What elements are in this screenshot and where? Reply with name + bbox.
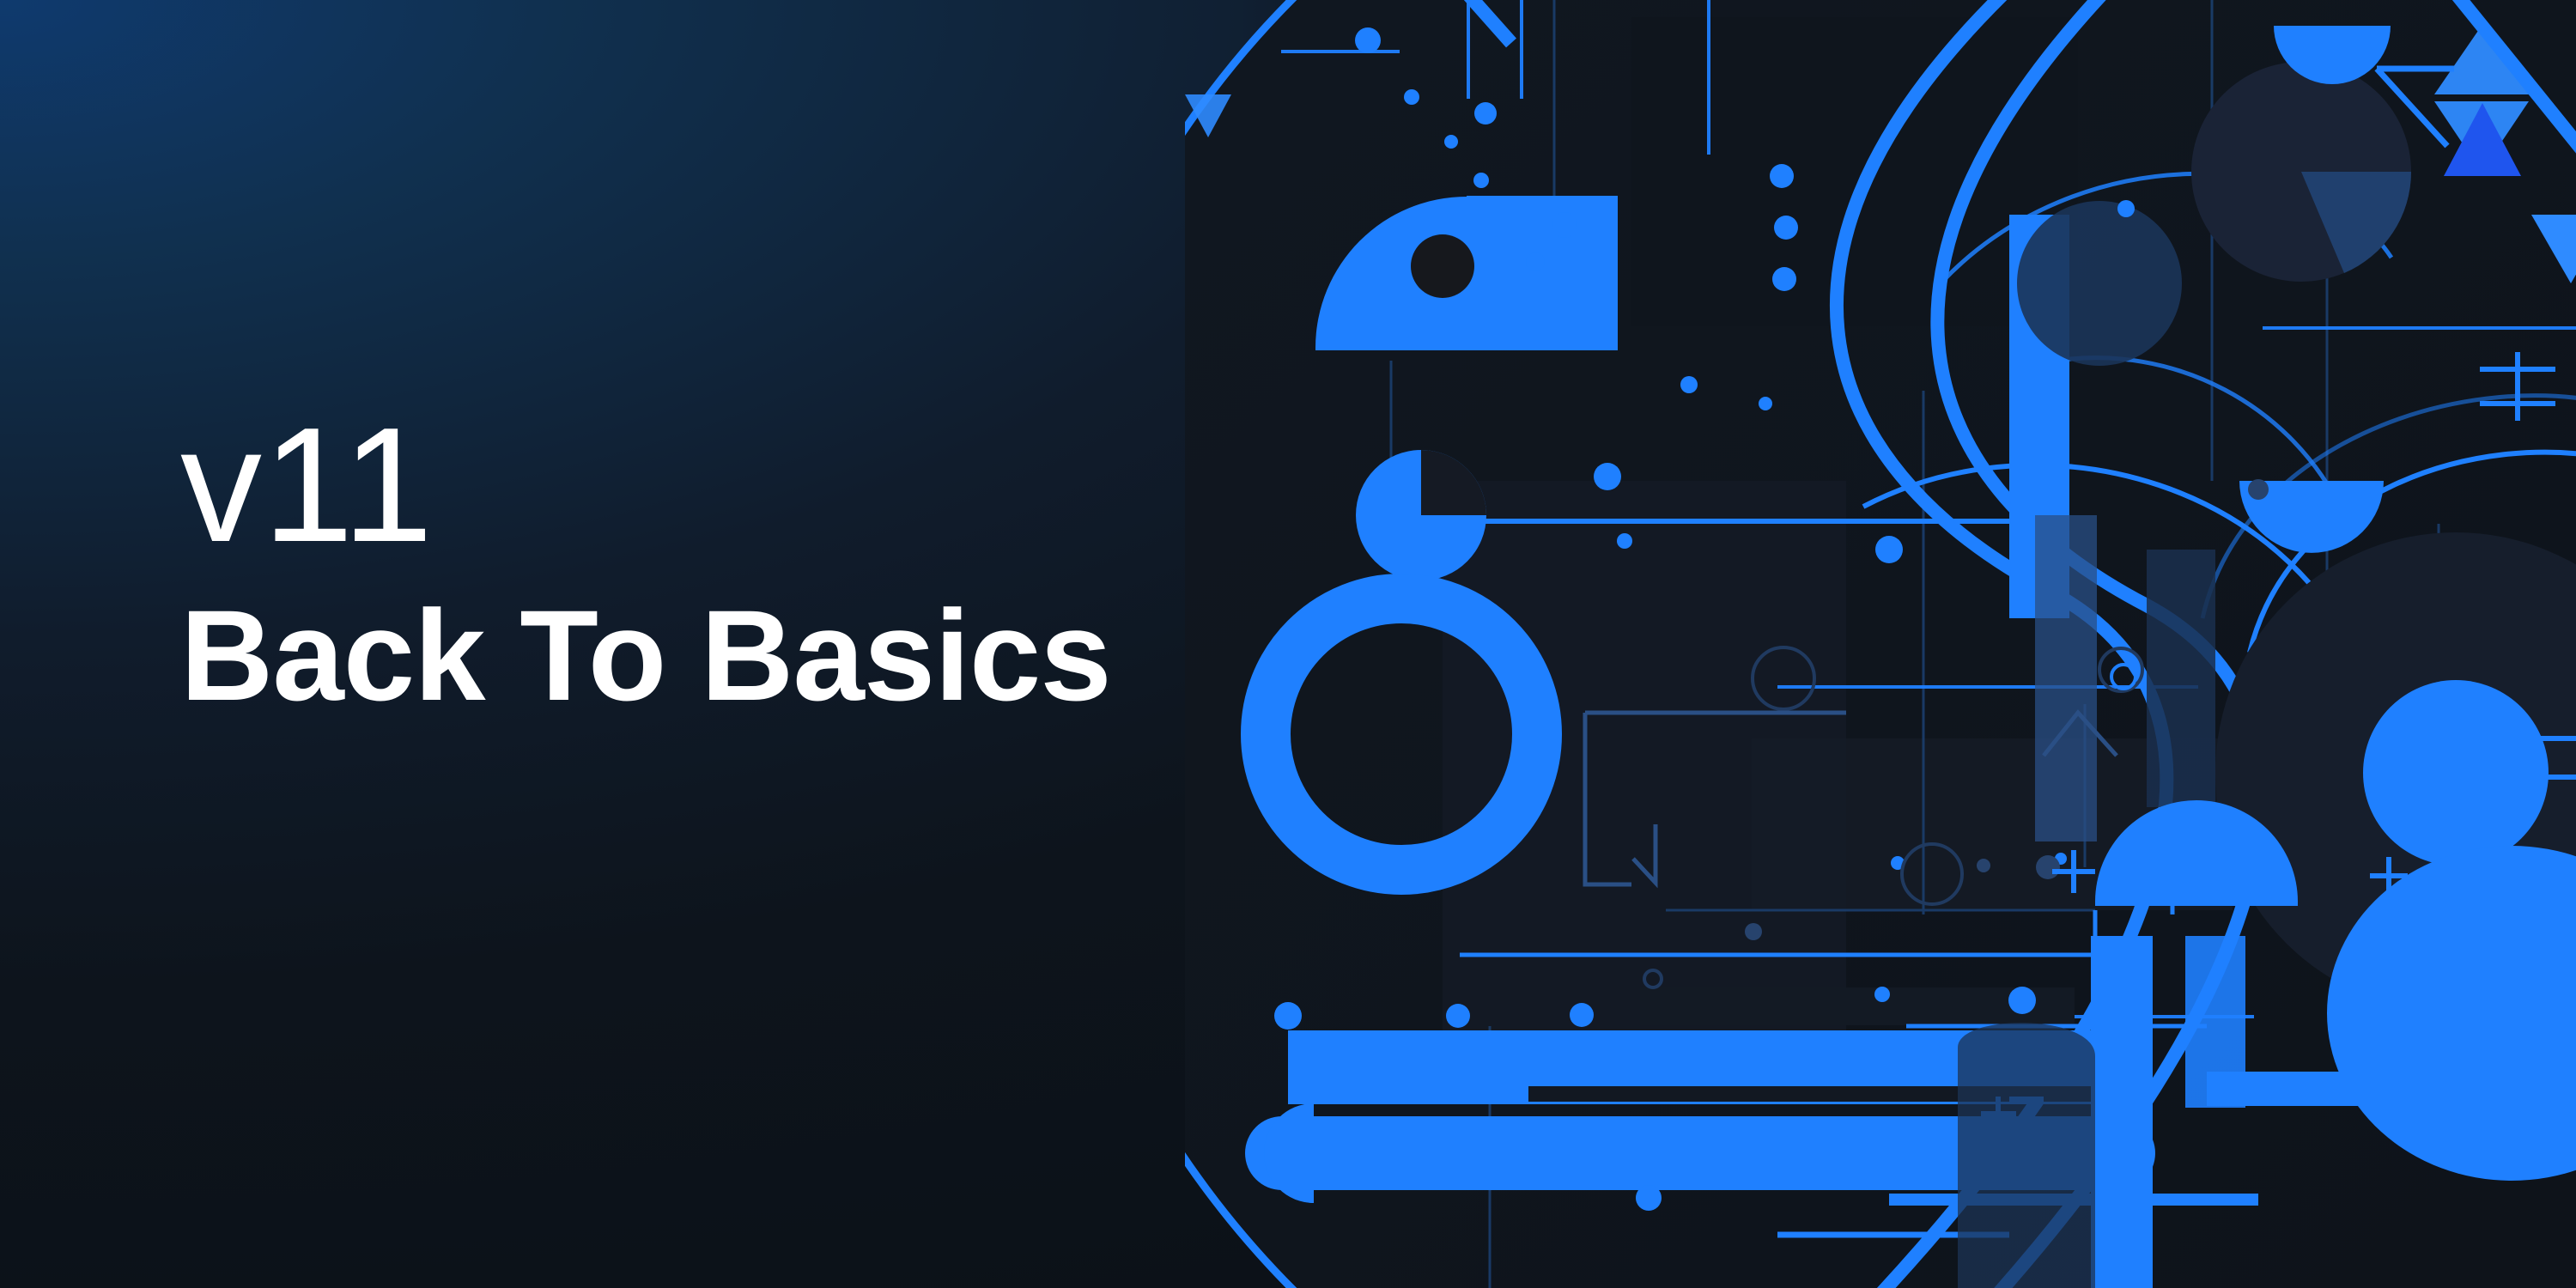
banner-text-block: v11 Back To Basics xyxy=(180,404,1382,720)
abstract-artwork xyxy=(1185,0,2576,1288)
dark-mass xyxy=(1958,1023,2095,1288)
artwork-svg xyxy=(1185,0,2576,1288)
version-label: v11 xyxy=(180,404,1382,567)
page-title: Back To Basics xyxy=(180,591,1382,720)
banner-canvas: v11 Back To Basics xyxy=(0,0,2576,1288)
muted-disc-a xyxy=(2017,201,2182,366)
